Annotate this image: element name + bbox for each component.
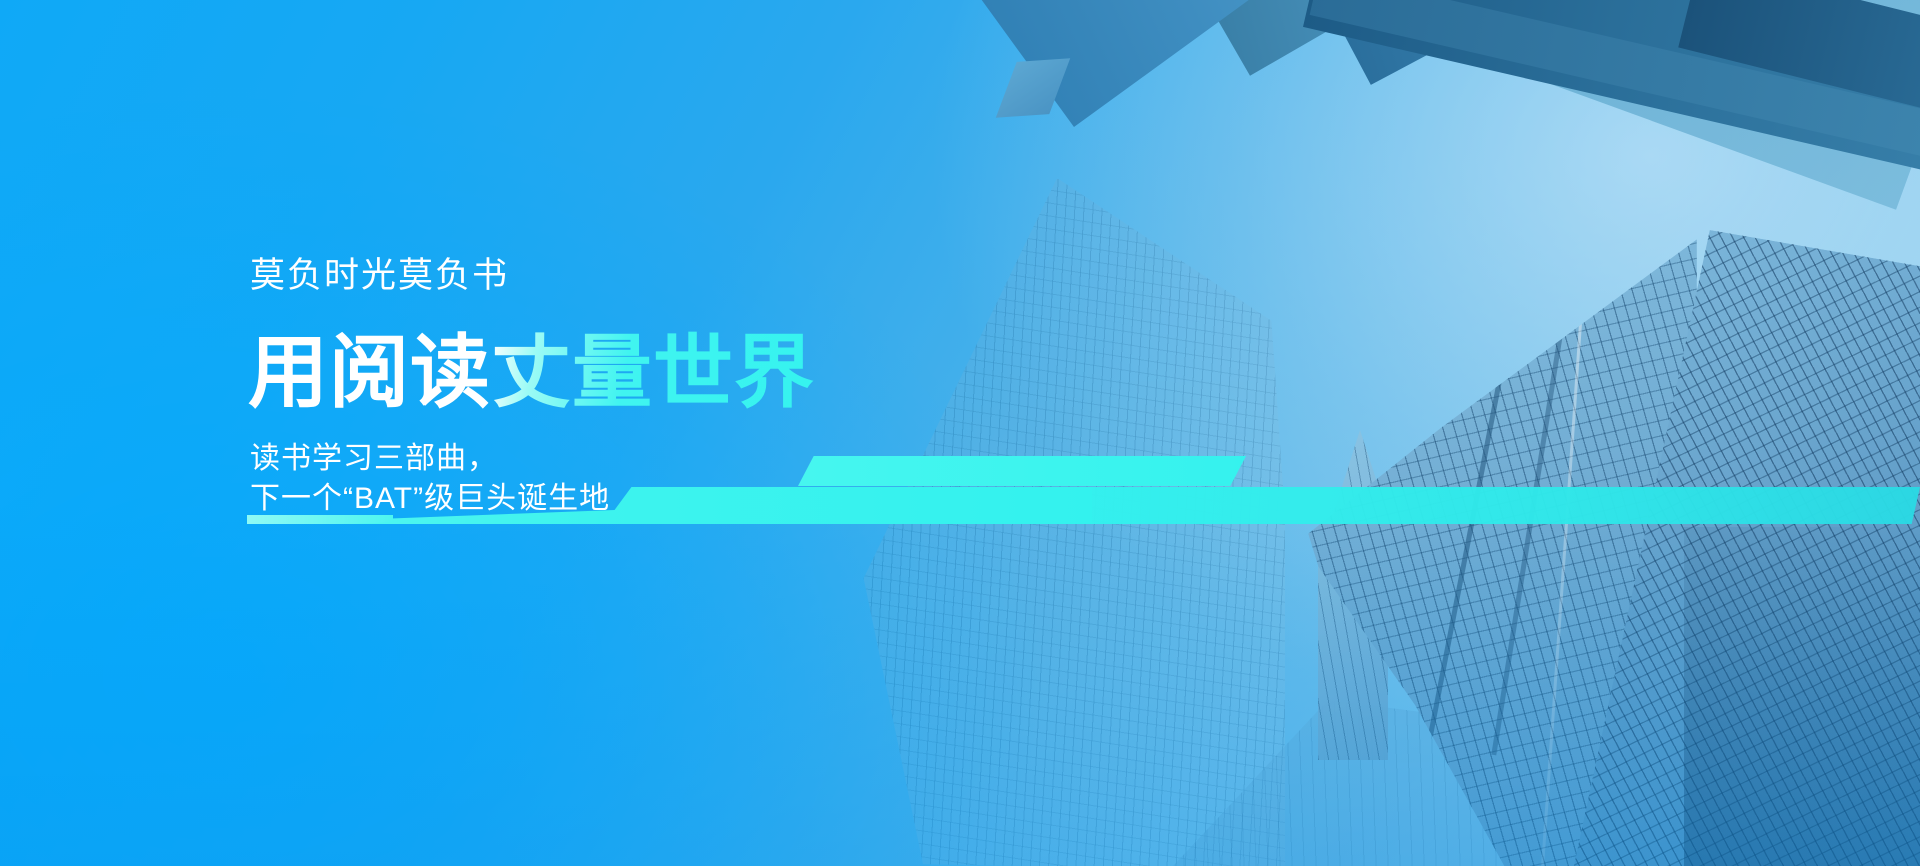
banner-subtitle: 读书学习三部曲， 下一个“BAT”级巨头诞生地 xyxy=(250,439,1148,519)
accent-bar-lower-extension xyxy=(1088,487,1920,524)
banner-subtitle-line-1: 读书学习三部曲， xyxy=(250,439,1148,479)
headline-segment-white: 用阅读 xyxy=(248,328,491,417)
promo-banner: 莫负时光莫负书 用阅读丈量世界 读书学习三部曲， 下一个“BAT”级巨头诞生地 xyxy=(0,0,1920,866)
banner-copy: 莫负时光莫负书 用阅读丈量世界 读书学习三部曲， 下一个“BAT”级巨头诞生地 xyxy=(248,258,1148,519)
banner-headline: 用阅读丈量世界 xyxy=(248,333,1148,413)
headline-segment-cyan: 丈量世界 xyxy=(491,328,815,417)
banner-eyebrow: 莫负时光莫负书 xyxy=(250,258,1148,293)
banner-subtitle-line-2: 下一个“BAT”级巨头诞生地 xyxy=(250,479,1148,519)
